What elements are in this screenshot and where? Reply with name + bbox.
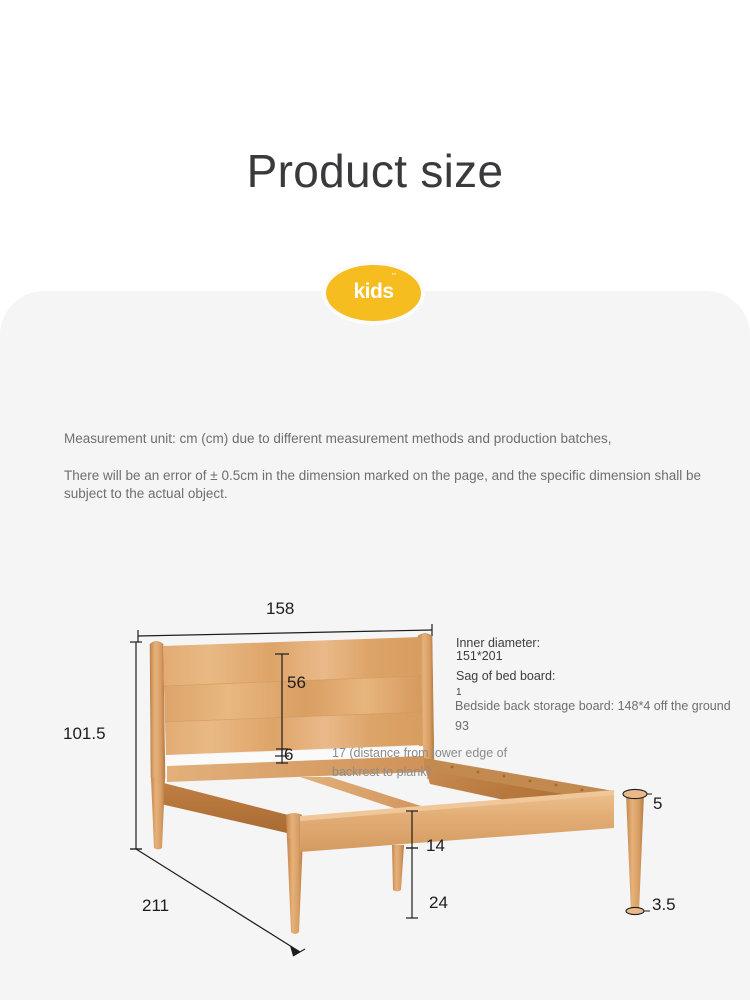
- dimension-label-headboard-gap: 6: [284, 745, 293, 765]
- annotation-storage-board-value: 93: [455, 718, 469, 735]
- kids-badge-diacritic-icon: ¨: [392, 276, 400, 280]
- right-front-leg: [626, 794, 644, 914]
- dimension-line-24: [406, 848, 418, 918]
- leader-lines-leg-diameter: [644, 794, 652, 911]
- dimension-line-101-5: [130, 642, 142, 849]
- left-front-leg: [287, 838, 303, 934]
- dimension-label-headboard-panel: 56: [287, 673, 306, 693]
- dimension-label-leg-bottom-diameter: 3.5: [652, 895, 676, 915]
- annotation-sag-label: Sag of bed board:: [456, 668, 555, 685]
- annotation-inner-diameter-value: 151*201: [456, 648, 503, 665]
- measurement-disclaimer: Measurement unit: cm (cm) due to differe…: [64, 430, 724, 503]
- headboard-left-leg: [151, 778, 165, 850]
- page-header: Product size: [0, 0, 750, 291]
- leg-top-diameter-ellipse: [623, 789, 647, 798]
- dimension-label-width: 158: [266, 599, 294, 619]
- product-size-page: Product size kids ¨ Measurement unit: cm…: [0, 0, 750, 1000]
- front-foot-rail: [300, 792, 614, 852]
- left-side-rail: [152, 780, 300, 836]
- headboard-left-post: [150, 642, 165, 781]
- front-middle-leg: [392, 845, 404, 892]
- page-title: Product size: [0, 140, 750, 202]
- kids-badge: kids ¨: [326, 265, 421, 321]
- dimension-label-ground-clearance: 24: [429, 893, 448, 913]
- dimension-label-leg-top-diameter: 5: [653, 794, 662, 814]
- bed-dimension-diagram: 158 101.5 56 6 211 14 24 5 3.5 Inner dia…: [0, 560, 750, 980]
- disclaimer-line-1: Measurement unit: cm (cm) due to differe…: [64, 430, 724, 448]
- dimension-label-height: 101.5: [63, 724, 106, 744]
- disclaimer-line-2: There will be an error of ± 0.5cm in the…: [64, 467, 724, 503]
- dimension-label-rail-height: 14: [426, 836, 445, 856]
- kids-badge-label: kids: [353, 280, 393, 304]
- leg-bottom-diameter-ellipse: [626, 907, 644, 914]
- dimension-label-length: 211: [142, 896, 169, 916]
- annotation-plank-distance: 17 (distance from lower edge of backrest…: [332, 744, 542, 782]
- annotation-storage-board-label: Bedside back storage board: 148*4 off th…: [455, 698, 731, 715]
